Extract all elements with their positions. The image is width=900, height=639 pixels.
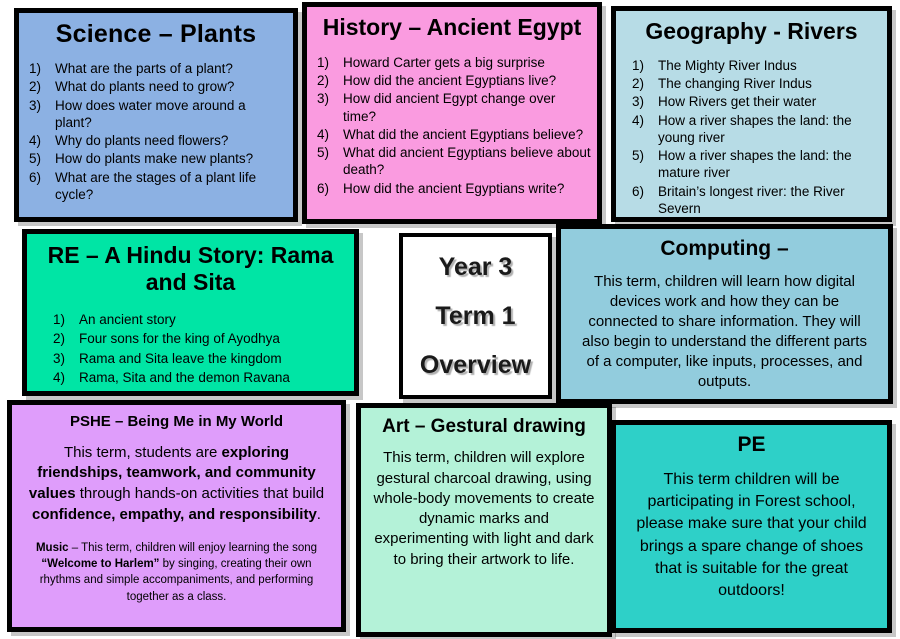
list-item-text: How did ancient Egypt change over time?: [343, 91, 555, 123]
list-item-number: 2): [53, 329, 77, 348]
computing-body: This term, children will learn how digit…: [561, 261, 888, 393]
list-item: 5)Rama and Sita return: [49, 387, 348, 396]
plain-text: through hands-on activities that build: [76, 485, 325, 502]
pe-body: This term children will be participating…: [616, 457, 887, 603]
list-item-text: What do plants need to grow?: [55, 79, 234, 94]
list-item-number: 4): [29, 132, 53, 149]
list-item: 4)How a river shapes the land: the young…: [628, 112, 881, 147]
subject-card-geography: Geography - Rivers 1)The Mighty River In…: [611, 6, 892, 222]
science-question-list: 1)What are the parts of a plant?2)What d…: [25, 60, 283, 203]
list-item: 2)How did the ancient Egyptians live?: [313, 72, 591, 89]
term-overview-poster: Science – Plants 1)What are the parts of…: [0, 0, 900, 639]
list-item-number: 4): [53, 368, 77, 387]
overview-line-year: Year 3: [439, 253, 513, 282]
list-item-number: 6): [632, 183, 656, 200]
subject-card-art: Art – Gestural drawing This term, childr…: [356, 403, 612, 637]
list-item-text: What are the stages of a plant life cycl…: [55, 170, 256, 202]
geography-question-list: 1)The Mighty River Indus2)The changing R…: [628, 57, 881, 217]
overview-title-card: Year 3 Term 1 Overview: [399, 233, 552, 399]
science-body: 1)What are the parts of a plant?2)What d…: [19, 48, 293, 203]
list-item-number: 1): [317, 54, 341, 71]
list-item-text: How does water move around a plant?: [55, 98, 246, 130]
list-item-text: Four sons for the king of Ayodhya: [79, 331, 280, 346]
plain-text: This term, students are: [64, 444, 222, 461]
list-item-number: 5): [53, 387, 77, 396]
subject-card-computing: Computing – This term, children will lea…: [556, 224, 893, 404]
list-item-text: Why do plants need flowers?: [55, 133, 228, 148]
pe-title: PE: [616, 425, 887, 457]
re-body: 1)An ancient story2)Four sons for the ki…: [27, 296, 354, 396]
list-item-number: 3): [53, 349, 77, 368]
re-question-list: 1)An ancient story2)Four sons for the ki…: [49, 310, 348, 396]
list-item-number: 5): [317, 144, 341, 161]
list-item-text: Howard Carter gets a big surprise: [343, 55, 545, 70]
list-item: 4)Rama, Sita and the demon Ravana: [49, 368, 348, 387]
list-item-text: How a river shapes the land: the young r…: [658, 113, 852, 145]
list-item-text: Rama, Sita and the demon Ravana: [79, 370, 290, 385]
pshe-title: PSHE – Being Me in My World: [12, 405, 341, 431]
list-item: 3)How Rivers get their water: [628, 93, 881, 110]
list-item-number: 5): [632, 147, 656, 164]
list-item-number: 2): [29, 78, 53, 95]
list-item: 4)What did the ancient Egyptians believe…: [313, 126, 591, 143]
list-item-number: 4): [632, 112, 656, 129]
list-item: 5)What did ancient Egyptians believe abo…: [313, 144, 591, 179]
science-title: Science – Plants: [19, 13, 293, 48]
plain-text: .: [317, 506, 321, 523]
list-item: 5)How do plants make new plants?: [25, 150, 283, 167]
subject-card-pe: PE This term children will be participat…: [611, 420, 892, 633]
list-item-number: 4): [317, 126, 341, 143]
plain-text: – This term, children will enjoy learnin…: [69, 542, 317, 554]
list-item-number: 1): [53, 310, 77, 329]
list-item: 1)What are the parts of a plant?: [25, 60, 283, 77]
list-item: 3)How did ancient Egypt change over time…: [313, 90, 591, 125]
list-item: 1)An ancient story: [49, 310, 348, 329]
list-item-text: What are the parts of a plant?: [55, 61, 233, 76]
list-item-text: Rama and Sita return: [79, 389, 207, 396]
subject-card-science: Science – Plants 1)What are the parts of…: [14, 8, 298, 222]
computing-title: Computing –: [561, 229, 888, 261]
list-item-text: Rama and Sita leave the kingdom: [79, 351, 282, 366]
geography-body: 1)The Mighty River Indus2)The changing R…: [616, 45, 887, 217]
list-item-number: 6): [317, 180, 341, 197]
subject-card-history: History – Ancient Egypt 1)Howard Carter …: [302, 2, 602, 224]
list-item: 3)How does water move around a plant?: [25, 97, 283, 132]
emphasis-text: confidence, empathy, and responsibility: [32, 506, 317, 523]
overview-line-term: Term 1: [435, 302, 515, 331]
list-item: 5)How a river shapes the land: the matur…: [628, 147, 881, 182]
list-item-text: How a river shapes the land: the mature …: [658, 148, 852, 180]
list-item-number: 6): [29, 169, 53, 186]
list-item: 6)Britain’s longest river: the River Sev…: [628, 183, 881, 218]
list-item-number: 5): [29, 150, 53, 167]
list-item-number: 3): [317, 90, 341, 107]
overview-line-overview: Overview: [420, 351, 531, 380]
list-item-text: What did the ancient Egyptians believe?: [343, 127, 583, 142]
list-item-text: An ancient story: [79, 312, 176, 327]
subject-card-re: RE – A Hindu Story: Rama and Sita 1)An a…: [22, 229, 359, 396]
list-item-number: 2): [317, 72, 341, 89]
list-item: 2)Four sons for the king of Ayodhya: [49, 329, 348, 348]
list-item-number: 1): [632, 57, 656, 74]
list-item-text: The changing River Indus: [658, 76, 812, 91]
history-body: 1)Howard Carter gets a big surprise2)How…: [307, 41, 597, 197]
art-body: This term, children will explore gestura…: [361, 437, 607, 570]
list-item: 6)What are the stages of a plant life cy…: [25, 169, 283, 204]
list-item-number: 3): [632, 93, 656, 110]
re-title: RE – A Hindu Story: Rama and Sita: [27, 234, 354, 296]
list-item-text: The Mighty River Indus: [658, 58, 797, 73]
list-item-text: Britain’s longest river: the River Sever…: [658, 184, 845, 216]
list-item: 1)Howard Carter gets a big surprise: [313, 54, 591, 71]
pshe-music-body: Music – This term, children will enjoy l…: [12, 526, 341, 605]
list-item-number: 2): [632, 75, 656, 92]
list-item-number: 3): [29, 97, 53, 114]
list-item-text: What did ancient Egyptians believe about…: [343, 145, 591, 177]
list-item-text: How did the ancient Egyptians write?: [343, 181, 564, 196]
list-item: 3)Rama and Sita leave the kingdom: [49, 349, 348, 368]
pshe-body: This term, students are exploring friend…: [12, 431, 341, 526]
emphasis-text: Music: [36, 542, 69, 554]
list-item: 6)How did the ancient Egyptians write?: [313, 180, 591, 197]
list-item-text: How do plants make new plants?: [55, 151, 253, 166]
geography-title: Geography - Rivers: [616, 11, 887, 45]
history-title: History – Ancient Egypt: [307, 7, 597, 41]
list-item-number: 1): [29, 60, 53, 77]
subject-card-pshe: PSHE – Being Me in My World This term, s…: [7, 400, 346, 632]
art-title: Art – Gestural drawing: [361, 408, 607, 437]
list-item: 2)The changing River Indus: [628, 75, 881, 92]
history-question-list: 1)Howard Carter gets a big surprise2)How…: [313, 54, 591, 197]
list-item: 1)The Mighty River Indus: [628, 57, 881, 74]
emphasis-text: “Welcome to Harlem”: [41, 558, 159, 570]
list-item-text: How did the ancient Egyptians live?: [343, 73, 556, 88]
list-item: 4)Why do plants need flowers?: [25, 132, 283, 149]
list-item: 2)What do plants need to grow?: [25, 78, 283, 95]
list-item-text: How Rivers get their water: [658, 94, 816, 109]
